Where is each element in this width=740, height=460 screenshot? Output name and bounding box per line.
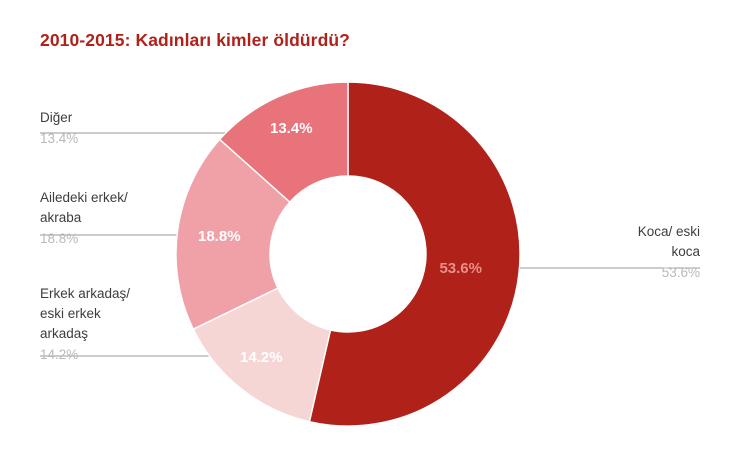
slice-value-aile: 18.8%	[198, 228, 241, 245]
slice-value-erkek: 14.2%	[240, 349, 283, 366]
callout-ailedeki-erkek-label: Ailedeki erkek/ akraba	[40, 188, 128, 228]
callout-ailedeki-erkek-value: 18.8%	[40, 228, 128, 249]
slice-value-diger: 13.4%	[270, 120, 313, 137]
callout-koca: Koca/ eski koca 53.6%	[638, 222, 700, 283]
slice-value-koca: 53.6%	[439, 260, 482, 277]
callout-diger-label: Diğer	[40, 108, 78, 128]
callout-diger: Diğer 13.4%	[40, 108, 78, 149]
callout-diger-value: 13.4%	[40, 128, 78, 149]
donut-slices	[176, 82, 520, 426]
callout-ailedeki-erkek: Ailedeki erkek/ akraba 18.8%	[40, 188, 128, 249]
callout-koca-label: Koca/ eski koca	[638, 222, 700, 262]
callout-erkek-arkadas-label: Erkek arkadaş/ eski erkek arkadaş	[40, 284, 130, 344]
callout-koca-value: 53.6%	[638, 262, 700, 283]
callout-erkek-arkadas: Erkek arkadaş/ eski erkek arkadaş 14.2%	[40, 284, 130, 365]
callout-erkek-arkadas-value: 14.2%	[40, 344, 130, 365]
chart-canvas: 2010-2015: Kadınları kimler öldürdü?	[0, 0, 740, 460]
